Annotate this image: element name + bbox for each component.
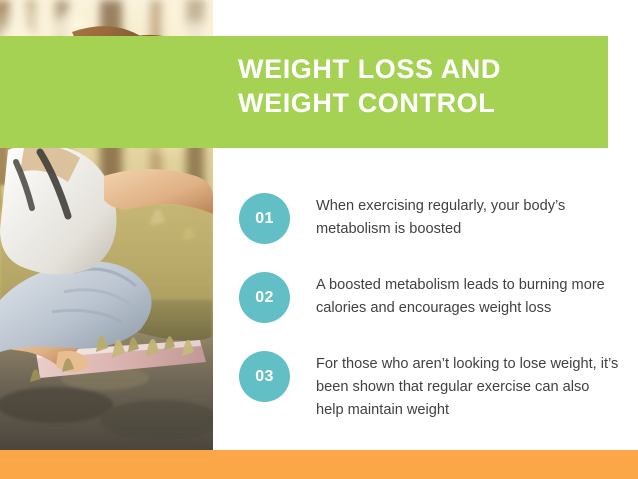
list-item: 02 A boosted metabolism leads to burning… xyxy=(239,272,619,323)
list-item: 03 For those who aren’t looking to lose … xyxy=(239,351,619,422)
page-title: WEIGHT LOSS AND WEIGHT CONTROL xyxy=(238,52,598,121)
list-item: 01 When exercising regularly, your body’… xyxy=(239,193,619,244)
slide-canvas: WEIGHT LOSS AND WEIGHT CONTROL 01 When e… xyxy=(0,0,638,479)
bottom-accent-bar xyxy=(0,450,638,479)
status-badge: 02 xyxy=(239,272,290,323)
list-item-text: A boosted metabolism leads to burning mo… xyxy=(316,272,619,320)
page-title-line-1: WEIGHT LOSS AND xyxy=(238,52,598,86)
list-item-text: For those who aren’t looking to lose wei… xyxy=(316,351,619,422)
page-title-line-2: WEIGHT CONTROL xyxy=(238,86,598,120)
status-badge: 03 xyxy=(239,351,290,402)
status-badge: 01 xyxy=(239,193,290,244)
list-item-text: When exercising regularly, your body’s m… xyxy=(316,193,619,241)
bullet-list: 01 When exercising regularly, your body’… xyxy=(239,193,619,422)
